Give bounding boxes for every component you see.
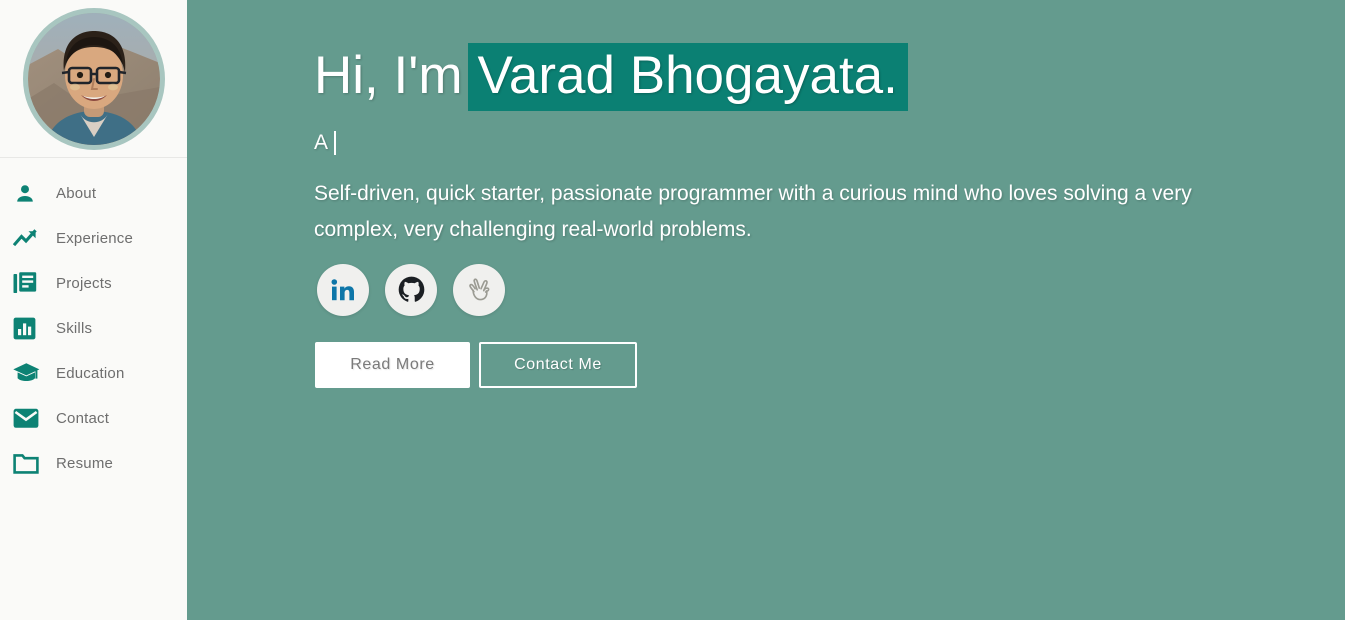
user-avatar-photo-icon [28, 13, 160, 145]
contact-me-button[interactable]: Contact Me [479, 342, 637, 388]
folder-icon [13, 451, 47, 477]
read-more-button[interactable]: Read More [315, 342, 470, 388]
hero-role-text: A [314, 131, 328, 155]
avatar [23, 8, 165, 150]
sidebar-item-label: About [47, 185, 96, 202]
social-links [314, 248, 1334, 316]
sidebar-item-resume[interactable]: Resume [0, 441, 187, 486]
linkedin-icon [330, 277, 356, 303]
sidebar-item-contact[interactable]: Contact [0, 396, 187, 441]
main-content: Hi, I'mVarad Bhogayata. A Self-driven, q… [187, 0, 1345, 620]
hero-description: Self-driven, quick starter, passionate p… [314, 156, 1264, 248]
sidebar: About Experience [0, 0, 187, 620]
person-icon [13, 181, 47, 207]
angellist-peace-hand-icon [466, 276, 493, 303]
sidebar-item-label: Education [47, 365, 125, 382]
sidebar-item-label: Contact [47, 410, 109, 427]
sidebar-item-about[interactable]: About [0, 171, 187, 216]
sidebar-item-label: Projects [47, 275, 112, 292]
sidebar-item-education[interactable]: Education [0, 351, 187, 396]
hero-actions: Read More Contact Me [314, 316, 1334, 388]
social-link-github[interactable] [385, 264, 437, 316]
graduation-cap-icon [13, 361, 47, 387]
social-link-linkedin[interactable] [317, 264, 369, 316]
bar-chart-icon [13, 316, 47, 342]
sidebar-item-label: Skills [47, 320, 92, 337]
sidebar-item-experience[interactable]: Experience [0, 216, 187, 261]
hero-name-highlight: Varad Bhogayata. [468, 43, 908, 111]
portfolio-page: About Experience [0, 0, 1345, 620]
envelope-icon [13, 406, 47, 432]
page-title: Hi, I'mVarad Bhogayata. [314, 48, 1334, 104]
hero-greeting: Hi, I'm [314, 46, 463, 105]
sidebar-item-label: Resume [47, 455, 113, 472]
avatar-section [0, 0, 187, 158]
hero-section: Hi, I'mVarad Bhogayata. A Self-driven, q… [314, 48, 1334, 388]
trending-up-icon [13, 226, 47, 252]
sidebar-item-projects[interactable]: Projects [0, 261, 187, 306]
sidebar-nav: About Experience [0, 158, 187, 486]
hero-role-typed-line: A [314, 104, 1334, 156]
sidebar-item-skills[interactable]: Skills [0, 306, 187, 351]
sidebar-item-label: Experience [47, 230, 133, 247]
github-icon [398, 276, 425, 303]
typing-cursor-icon [334, 131, 336, 155]
library-books-icon [13, 271, 47, 297]
social-link-angellist[interactable] [453, 264, 505, 316]
